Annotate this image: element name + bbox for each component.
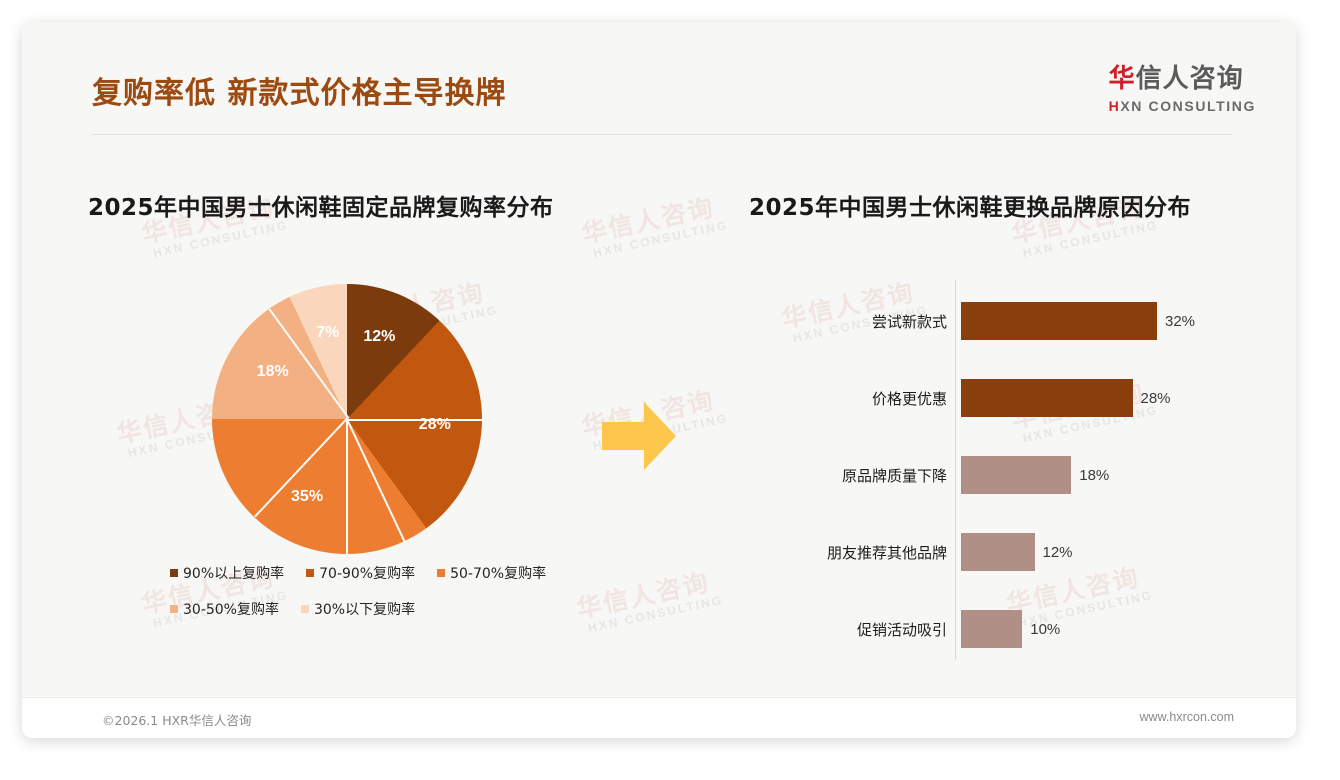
legend-item[interactable]: 30%以下复购率: [301, 599, 415, 619]
legend-swatch-icon: [170, 605, 178, 613]
bar-value-label: 32%: [1165, 313, 1195, 330]
bar-value-label: 12%: [1043, 544, 1073, 561]
legend-item[interactable]: 70-90%复购率: [306, 563, 415, 583]
bar-row[interactable]: 促销活动吸引10%: [749, 610, 1060, 648]
bar-value-label: 18%: [1079, 467, 1109, 484]
watermark: 华信人咨询HXN CONSULTING: [579, 192, 729, 261]
bar-fill: [961, 302, 1157, 340]
legend-label: 30-50%复购率: [183, 599, 279, 619]
bar-value-label: 28%: [1141, 390, 1171, 407]
logo-english: HXN CONSULTING: [1109, 98, 1256, 114]
legend-label: 90%以上复购率: [183, 563, 284, 583]
legend-swatch-icon: [170, 569, 178, 577]
bar-category-label: 原品牌质量下降: [749, 465, 961, 486]
bar-category-label: 价格更优惠: [749, 388, 961, 409]
legend-item[interactable]: 30-50%复购率: [170, 599, 279, 619]
legend-row: 90%以上复购率70-90%复购率50-70%复购率: [170, 563, 590, 583]
legend-swatch-icon: [437, 569, 445, 577]
bar-fill: [961, 379, 1133, 417]
bar-category-label: 促销活动吸引: [749, 619, 961, 640]
legend-label: 50-70%复购率: [450, 563, 546, 583]
pie-slice-divider: [346, 419, 405, 542]
bar-category-label: 尝试新款式: [749, 311, 961, 332]
flow-arrow-icon: [600, 400, 678, 477]
logo-chinese: 华信人咨询: [1109, 58, 1256, 95]
legend-swatch-icon: [301, 605, 309, 613]
bar-row[interactable]: 朋友推荐其他品牌12%: [749, 533, 1073, 571]
pie-slice-label: 12%: [363, 328, 395, 346]
bar-row[interactable]: 价格更优惠28%: [749, 379, 1171, 417]
pie-slice-label: 35%: [291, 488, 323, 506]
pie-slice-divider: [346, 419, 348, 554]
bar-row[interactable]: 尝试新款式32%: [749, 302, 1195, 340]
legend-label: 30%以下复购率: [314, 599, 415, 619]
title-divider: [92, 134, 1232, 135]
legend-item[interactable]: 90%以上复购率: [170, 563, 284, 583]
pie-chart-title: 2025年中国男士休闲鞋固定品牌复购率分布: [88, 188, 554, 222]
legend-label: 70-90%复购率: [319, 563, 415, 583]
pie-graphic: 12%28%35%18%7%: [212, 284, 482, 554]
logo-cn-rest: 信人咨询: [1136, 64, 1244, 94]
legend-item[interactable]: 50-70%复购率: [437, 563, 546, 583]
bar-chart: 尝试新款式32%价格更优惠28%原品牌质量下降18%朋友推荐其他品牌12%促销活…: [749, 280, 1249, 660]
bar-chart-title: 2025年中国男士休闲鞋更换品牌原因分布: [749, 188, 1191, 222]
website-link[interactable]: www.hxrcon.com: [1140, 710, 1234, 724]
bar-value-label: 10%: [1030, 621, 1060, 638]
copyright-text: ©2026.1 HXR华信人咨询: [102, 710, 251, 729]
legend-row: 30-50%复购率30%以下复购率: [170, 599, 590, 619]
watermark: 华信人咨询HXN CONSULTING: [574, 567, 724, 636]
logo-cn-accent: 华: [1109, 64, 1136, 94]
logo-en-accent: H: [1109, 98, 1121, 114]
footer-bar: ©2026.1 HXR华信人咨询 www.hxrcon.com: [22, 697, 1296, 738]
bar-category-label: 朋友推荐其他品牌: [749, 542, 961, 563]
pie-slice-label: 7%: [316, 324, 339, 342]
bar-row[interactable]: 原品牌质量下降18%: [749, 456, 1109, 494]
legend-swatch-icon: [306, 569, 314, 577]
slide-card: 华信人咨询HXN CONSULTING华信人咨询HXN CONSULTING华信…: [22, 22, 1296, 738]
bar-fill: [961, 533, 1035, 571]
pie-slice-divider: [348, 419, 483, 421]
bar-fill: [961, 610, 1022, 648]
bar-fill: [961, 456, 1071, 494]
company-logo: 华信人咨询 HXN CONSULTING: [1109, 58, 1256, 114]
pie-legend: 90%以上复购率70-90%复购率50-70%复购率30-50%复购率30%以下…: [170, 563, 590, 635]
page-title: 复购率低 新款式价格主导换牌: [92, 68, 506, 112]
pie-slice-label: 18%: [257, 363, 289, 381]
pie-chart: 12%28%35%18%7%: [212, 284, 482, 554]
logo-en-rest: XN CONSULTING: [1120, 98, 1256, 114]
